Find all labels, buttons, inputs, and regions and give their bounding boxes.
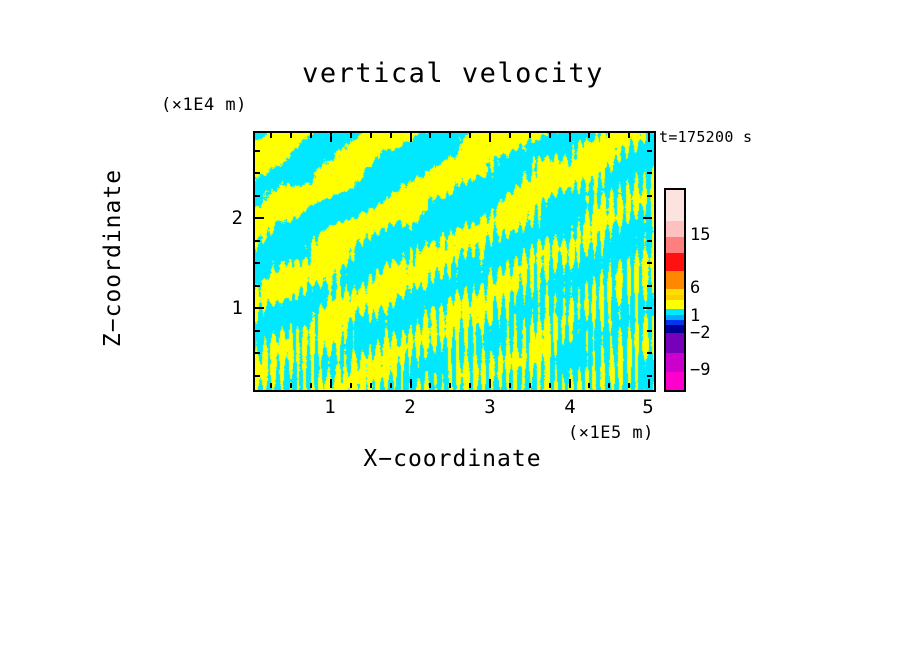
axis-tick <box>549 383 551 388</box>
axis-tick <box>255 307 264 309</box>
axis-tick <box>350 383 352 388</box>
axis-tick <box>529 133 531 138</box>
colorbar-band <box>666 300 684 309</box>
axis-tick <box>647 375 652 377</box>
axis-tick <box>647 150 652 152</box>
x-unit-label: (×1E5 m) <box>568 423 654 443</box>
axis-tick <box>429 383 431 388</box>
axis-tick <box>410 133 412 142</box>
axis-tick <box>330 379 332 388</box>
colorbar-tick-label: −9 <box>690 362 710 379</box>
axis-tick <box>410 379 412 388</box>
axis-tick <box>390 383 392 388</box>
colorbar-band <box>666 372 684 390</box>
axis-tick <box>310 383 312 388</box>
x-axis-title: X−coordinate <box>253 446 652 472</box>
velocity-field-canvas <box>255 133 654 390</box>
axis-tick <box>255 375 260 377</box>
colorbar-band <box>666 325 684 333</box>
axis-tick <box>255 285 260 287</box>
axis-tick <box>469 383 471 388</box>
axis-tick <box>270 383 272 388</box>
axis-tick <box>370 133 372 138</box>
axis-tick <box>569 379 571 388</box>
axis-tick <box>647 240 652 242</box>
colorbar-band <box>666 271 684 289</box>
axis-tick <box>509 383 511 388</box>
y-axis-title: Z−coordinate <box>100 133 126 383</box>
colorbar-tick-label: 15 <box>690 227 710 244</box>
timestamp-label: t=175200 s <box>659 128 752 146</box>
axis-tick <box>429 133 431 138</box>
axis-tick <box>648 133 650 142</box>
axis-tick <box>647 172 652 174</box>
z-unit-label: (×1E4 m) <box>161 95 247 115</box>
axis-tick <box>449 383 451 388</box>
axis-tick <box>549 133 551 138</box>
colorbar <box>664 188 686 392</box>
x-tick-label: 3 <box>475 396 505 418</box>
colorbar-band <box>666 333 684 353</box>
axis-tick <box>290 133 292 138</box>
x-tick-label: 4 <box>555 396 585 418</box>
axis-tick <box>529 383 531 388</box>
axis-tick <box>330 133 332 142</box>
page-title: vertical velocity <box>253 58 653 89</box>
y-tick-label: 2 <box>213 207 243 229</box>
colorbar-band <box>666 253 684 271</box>
colorbar-tick-label: −2 <box>690 325 710 342</box>
axis-tick <box>255 352 260 354</box>
axis-tick <box>390 133 392 138</box>
x-tick-label: 2 <box>395 396 425 418</box>
axis-tick <box>643 307 652 309</box>
axis-tick <box>449 133 451 138</box>
y-tick-label: 1 <box>213 297 243 319</box>
axis-tick <box>255 150 260 152</box>
x-tick-label: 5 <box>633 396 663 418</box>
figure-root: vertical velocity (×1E4 m) t=175200 s 12… <box>0 0 904 654</box>
colorbar-band <box>666 353 684 372</box>
axis-tick <box>255 240 260 242</box>
axis-tick <box>370 383 372 388</box>
axis-tick <box>647 330 652 332</box>
axis-tick <box>647 262 652 264</box>
axis-tick <box>647 352 652 354</box>
axis-tick <box>270 133 272 138</box>
axis-tick <box>469 133 471 138</box>
axis-tick <box>290 383 292 388</box>
axis-tick <box>648 379 650 388</box>
axis-tick <box>588 383 590 388</box>
axis-tick <box>489 133 491 142</box>
axis-tick <box>569 133 571 142</box>
axis-tick <box>255 195 260 197</box>
axis-tick <box>608 133 610 138</box>
axis-tick <box>350 133 352 138</box>
axis-tick <box>509 133 511 138</box>
axis-tick <box>255 330 260 332</box>
axis-tick <box>647 285 652 287</box>
colorbar-band <box>666 190 684 221</box>
axis-tick <box>255 217 264 219</box>
axis-tick <box>255 172 260 174</box>
colorbar-band <box>666 221 684 237</box>
plot-area <box>253 131 656 392</box>
axis-tick <box>255 262 260 264</box>
axis-tick <box>310 133 312 138</box>
axis-tick <box>628 383 630 388</box>
axis-tick <box>643 217 652 219</box>
axis-tick <box>647 195 652 197</box>
x-tick-label: 1 <box>315 396 345 418</box>
axis-tick <box>588 133 590 138</box>
axis-tick <box>489 379 491 388</box>
axis-tick <box>608 383 610 388</box>
colorbar-tick-label: 6 <box>690 280 700 297</box>
colorbar-band <box>666 237 684 253</box>
axis-tick <box>628 133 630 138</box>
